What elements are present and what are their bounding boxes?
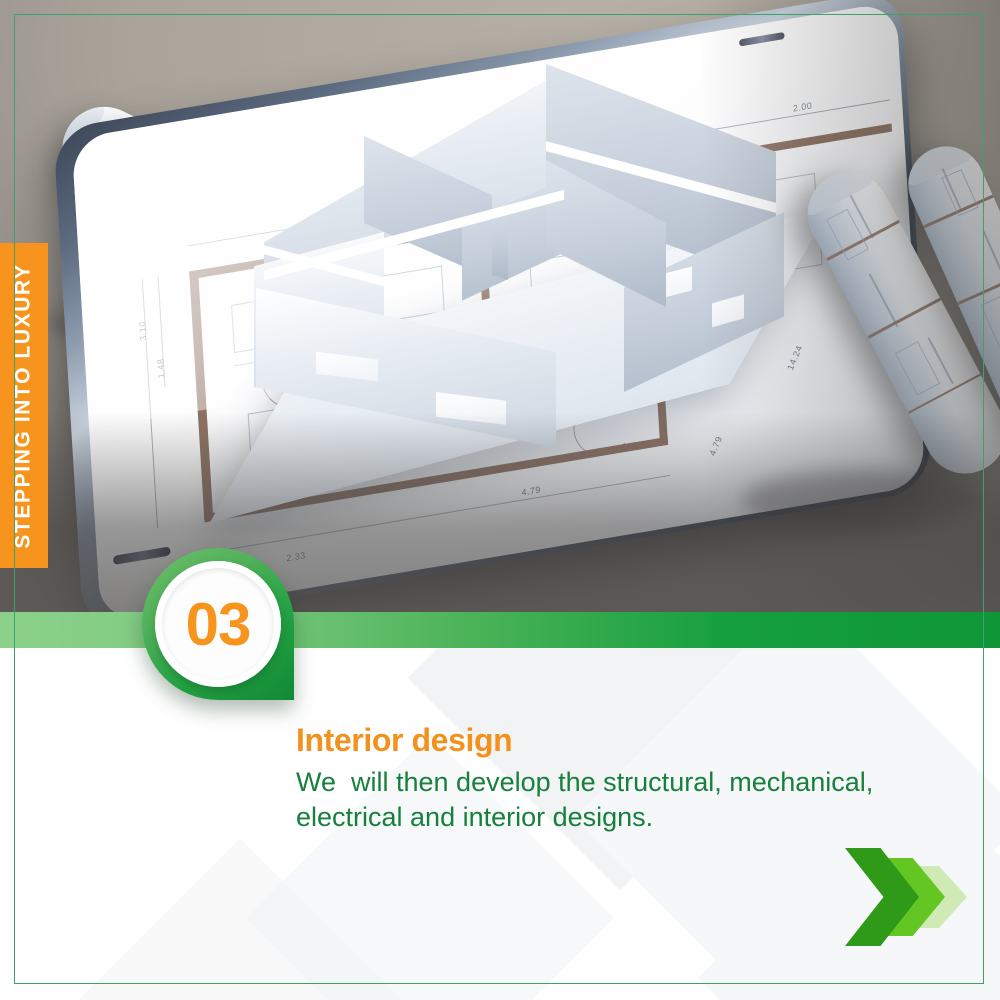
step-number: 03 — [142, 548, 294, 700]
poster-canvas: 3.10 1.48 2.33 8.40 4.79 14.24 2.00 4.79 — [0, 0, 1000, 1000]
chevron-dark-icon — [845, 848, 919, 946]
content-body: We will then develop the structural, mec… — [296, 765, 896, 834]
step-number-badge: 03 — [142, 548, 294, 700]
vertical-tagline-text: STEPPING INTO LUXURY — [12, 263, 36, 548]
content-text-block: Interior design We will then develop the… — [296, 722, 896, 834]
next-arrow-graphic[interactable] — [845, 848, 965, 946]
hero-photo: 3.10 1.48 2.33 8.40 4.79 14.24 2.00 4.79 — [0, 0, 1000, 622]
content-title: Interior design — [296, 722, 896, 759]
vertical-tagline-banner: STEPPING INTO LUXURY — [0, 243, 48, 568]
